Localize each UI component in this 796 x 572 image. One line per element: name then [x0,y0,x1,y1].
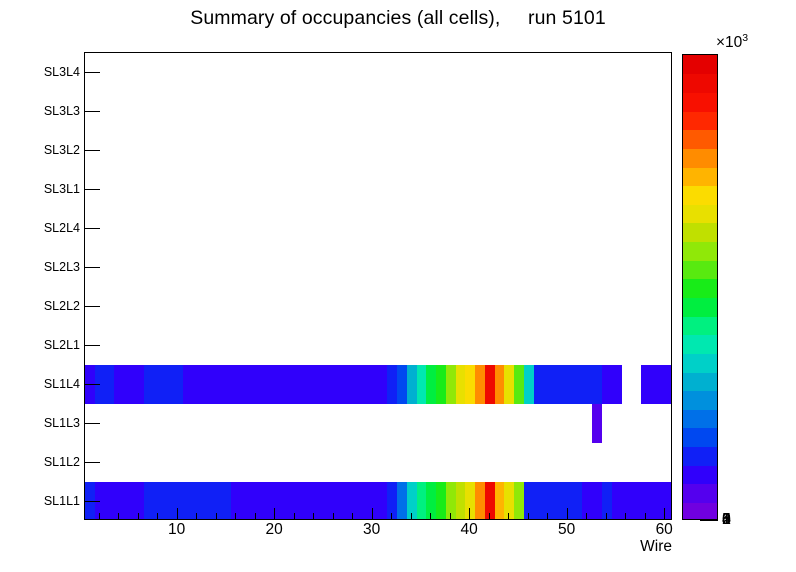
color-scale-band [683,260,717,279]
y-axis-label-sl3l3: SL3L3 [44,104,80,118]
color-scale-band [683,74,717,93]
y-axis-tick [84,423,100,424]
color-scale-band [683,353,717,372]
x-axis-minor-tick [196,513,197,520]
color-scale-band [683,391,717,410]
color-scale-band [683,316,717,335]
color-scale-band [683,185,717,204]
x-axis-minor-tick [99,513,100,520]
x-axis-minor-tick [333,513,334,520]
x-axis-label-30: 30 [363,521,380,539]
y-axis-label-sl1l2: SL1L2 [44,455,80,469]
x-axis-minor-tick [138,513,139,520]
x-axis-major-tick [274,508,275,520]
color-scale-band [683,148,717,167]
y-axis-tick [84,72,100,73]
x-axis-label-10: 10 [168,521,185,539]
y-axis-label-sl3l4: SL3L4 [44,65,80,79]
x-axis-minor-tick [606,513,607,520]
color-scale-band [683,241,717,260]
color-scale-band [683,92,717,111]
color-scale-band [683,484,717,503]
color-scale-band [683,204,717,223]
y-axis-tick [84,150,100,151]
color-scale-band [683,297,717,316]
heatmap-cell [660,365,670,404]
color-scale-band [683,130,717,149]
x-axis-minor-tick [528,513,529,520]
color-scale-band [683,223,717,242]
color-scale-band [683,55,717,74]
color-scale-band [683,428,717,447]
color-scale-bar [682,54,718,520]
root-canvas: Summary of occupancies (all cells), run … [0,0,796,572]
x-axis-minor-tick [255,513,256,520]
color-scale-band [683,279,717,298]
color-scale-band [683,372,717,391]
x-axis-minor-tick [294,513,295,520]
x-axis-minor-tick [235,513,236,520]
color-scale-tick [700,520,718,521]
color-scale-exponent: ×103 [716,32,748,52]
y-axis-tick [84,462,100,463]
x-axis-major-tick [567,508,568,520]
x-axis-title: Wire [0,538,672,556]
exponent-power: 3 [742,32,748,44]
exponent-base: ×10 [716,34,742,51]
y-axis-tick [84,228,100,229]
x-axis-minor-tick [586,513,587,520]
x-axis-major-tick [372,508,373,520]
heatmap-cell [660,482,670,519]
x-axis-minor-tick [430,513,431,520]
color-scale-band [683,409,717,428]
y-axis-label-sl2l2: SL2L2 [44,299,80,313]
color-scale-label-6: 6 [722,511,731,529]
x-axis-minor-tick [352,513,353,520]
x-axis-minor-tick [411,513,412,520]
color-scale-band [683,465,717,484]
color-scale-band [683,335,717,354]
y-axis-tick [84,306,100,307]
x-axis-label-20: 20 [266,521,283,539]
y-axis-label-sl2l3: SL2L3 [44,260,80,274]
y-axis-label-sl2l4: SL2L4 [44,221,80,235]
color-scale-band [683,111,717,130]
y-axis-tick [84,345,100,346]
y-axis-tick [84,111,100,112]
x-axis-major-tick [177,508,178,520]
x-axis-minor-tick [489,513,490,520]
plot-frame [84,52,672,520]
y-axis-label-sl1l4: SL1L4 [44,377,80,391]
x-axis-label-40: 40 [461,521,478,539]
x-axis-minor-tick [645,513,646,520]
y-axis-label-sl3l1: SL3L1 [44,182,80,196]
x-axis-minor-tick [216,513,217,520]
heatmap-cells [85,53,671,519]
x-axis-label-60: 60 [656,521,673,539]
color-scale-band [683,167,717,186]
y-axis-tick [84,189,100,190]
y-axis-label-sl2l1: SL2L1 [44,338,80,352]
color-scale-band [683,446,717,465]
x-axis-minor-tick [625,513,626,520]
page-title: Summary of occupancies (all cells), run … [0,7,796,30]
x-axis-label-50: 50 [558,521,575,539]
x-axis-minor-tick [118,513,119,520]
x-axis-minor-tick [391,513,392,520]
y-axis-label-sl1l3: SL1L3 [44,416,80,430]
x-axis-minor-tick [547,513,548,520]
color-scale-band [683,502,717,520]
y-axis-tick [84,267,100,268]
x-axis-major-tick [469,508,470,520]
x-axis-minor-tick [508,513,509,520]
x-axis-minor-tick [450,513,451,520]
y-axis-tick [84,384,100,385]
x-axis-minor-tick [313,513,314,520]
y-axis-tick [84,501,100,502]
y-axis-label-sl1l1: SL1L1 [44,494,80,508]
heatmap-cell [592,404,602,443]
heatmap-cell [612,365,622,404]
y-axis-label-sl3l2: SL3L2 [44,143,80,157]
x-axis-major-tick [664,508,665,520]
x-axis-minor-tick [157,513,158,520]
